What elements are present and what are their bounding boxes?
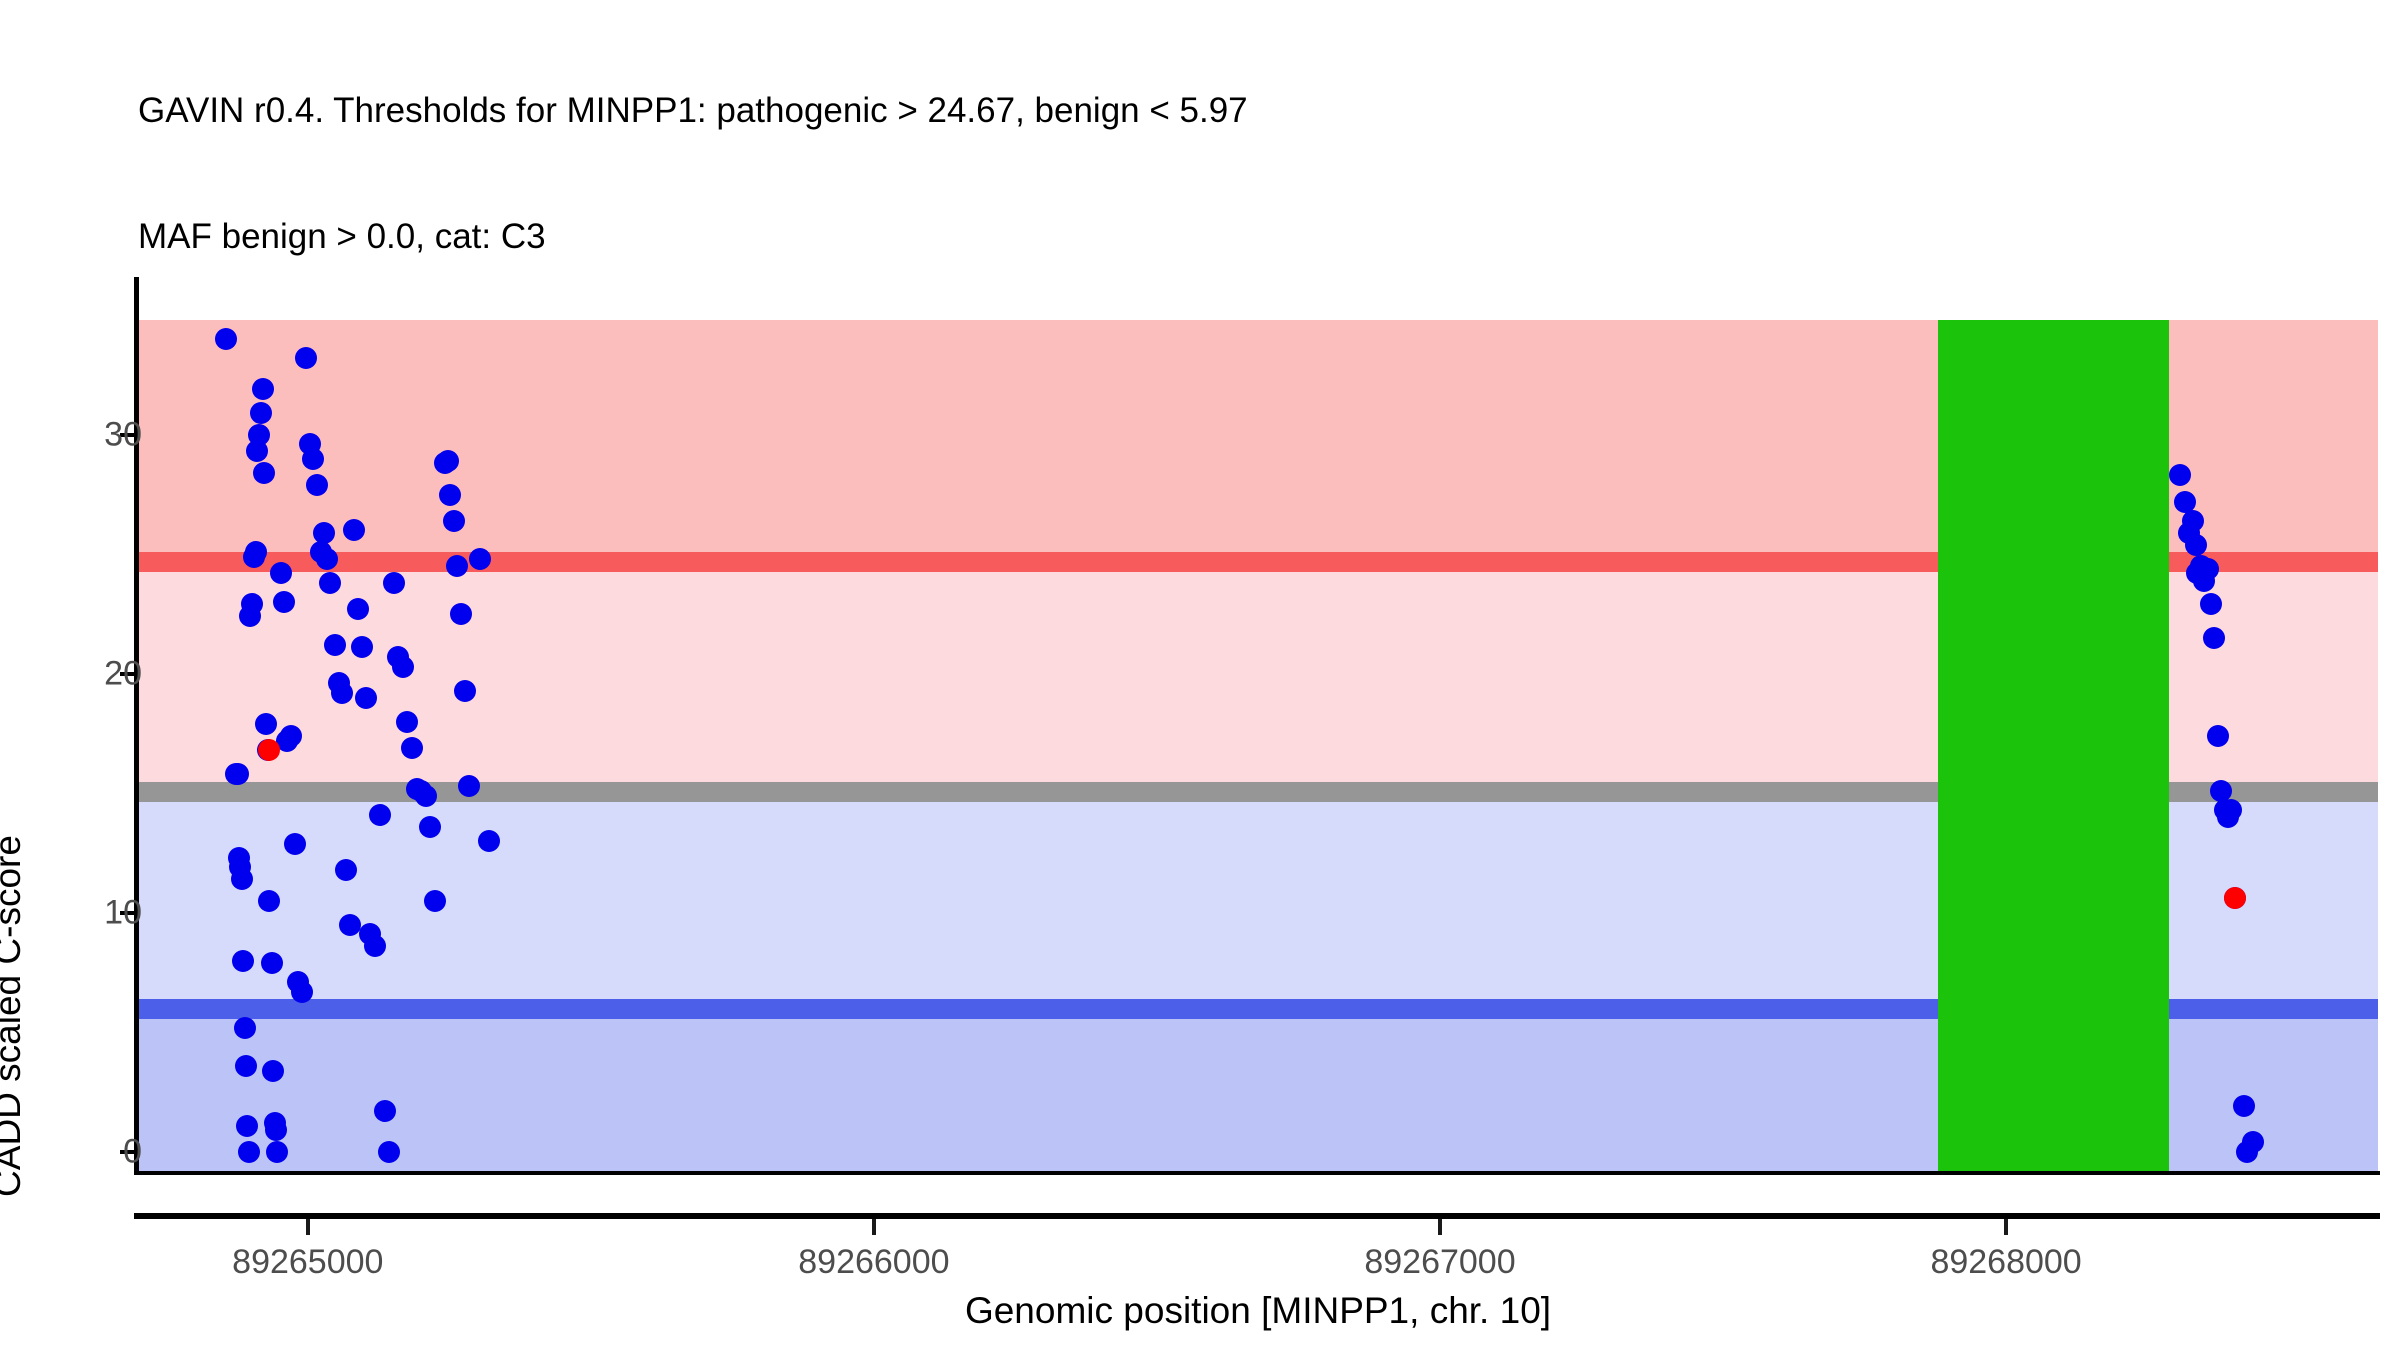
chart-page: GAVIN r0.4. Thresholds for MINPP1: patho… xyxy=(0,0,2400,1350)
data-point xyxy=(295,347,317,369)
x-tick xyxy=(306,1219,310,1235)
data-point xyxy=(245,541,267,563)
y-axis-line xyxy=(134,277,139,1175)
data-point xyxy=(424,890,446,912)
data-point xyxy=(265,1119,287,1141)
data-point xyxy=(339,914,361,936)
data-point xyxy=(454,680,476,702)
data-point xyxy=(351,636,373,658)
data-point xyxy=(270,562,292,584)
y-axis-title-wrap: CADD scaled C-score xyxy=(0,270,60,1170)
data-point xyxy=(291,981,313,1003)
plot-panel xyxy=(138,320,2378,1171)
data-point xyxy=(324,634,346,656)
refseq-exon-1-overlay xyxy=(1938,320,2169,1171)
data-point xyxy=(306,474,328,496)
data-point xyxy=(396,711,418,733)
data-point xyxy=(2182,510,2204,532)
data-point xyxy=(2169,464,2191,486)
data-point xyxy=(343,519,365,541)
data-point xyxy=(355,687,377,709)
data-point xyxy=(415,785,437,807)
data-point xyxy=(439,484,461,506)
data-point xyxy=(374,1100,396,1122)
data-point xyxy=(232,950,254,972)
x-tick xyxy=(1438,1219,1442,1235)
y-tick-label: 10 xyxy=(104,893,142,932)
x-tick xyxy=(2004,1219,2008,1235)
data-point xyxy=(238,1141,260,1163)
data-point xyxy=(234,1017,256,1039)
data-point xyxy=(335,859,357,881)
data-point xyxy=(236,1115,258,1137)
x-tick xyxy=(872,1219,876,1235)
data-point xyxy=(280,725,302,747)
data-point xyxy=(378,1141,400,1163)
data-point xyxy=(2185,534,2207,556)
data-point xyxy=(250,402,272,424)
data-point xyxy=(331,682,353,704)
data-point xyxy=(252,378,274,400)
data-point xyxy=(316,548,338,570)
data-point xyxy=(446,555,468,577)
y-tick-label: 0 xyxy=(123,1132,142,1171)
data-point xyxy=(419,816,441,838)
data-point xyxy=(458,775,480,797)
data-point xyxy=(258,890,280,912)
data-point xyxy=(284,833,306,855)
data-point xyxy=(262,1060,284,1082)
data-point xyxy=(2207,725,2229,747)
data-point xyxy=(2220,799,2242,821)
data-point xyxy=(369,804,391,826)
data-point xyxy=(319,572,341,594)
data-point xyxy=(313,522,335,544)
data-point xyxy=(227,763,249,785)
x-axis-rule xyxy=(134,1213,2380,1219)
data-point xyxy=(392,656,414,678)
x-tick-label: 89266000 xyxy=(798,1243,949,1282)
data-point xyxy=(215,328,237,350)
data-point xyxy=(2224,887,2246,909)
data-point xyxy=(469,548,491,570)
data-point xyxy=(248,424,270,446)
data-point xyxy=(443,510,465,532)
data-point xyxy=(231,868,253,890)
data-point xyxy=(2197,558,2219,580)
data-point xyxy=(364,935,386,957)
x-axis-title: Genomic position [MINPP1, chr. 10] xyxy=(965,1290,1551,1332)
data-point xyxy=(258,739,280,761)
data-point xyxy=(2233,1095,2255,1117)
x-tick-label: 89268000 xyxy=(1930,1243,2081,1282)
data-point xyxy=(2200,593,2222,615)
data-point xyxy=(2242,1131,2264,1153)
data-point xyxy=(450,603,472,625)
data-point xyxy=(2203,627,2225,649)
title-line-1: GAVIN r0.4. Thresholds for MINPP1: patho… xyxy=(138,90,2338,132)
data-point xyxy=(273,591,295,613)
data-point xyxy=(255,713,277,735)
data-point xyxy=(383,572,405,594)
data-point xyxy=(235,1055,257,1077)
data-point xyxy=(253,462,275,484)
y-tick-label: 30 xyxy=(104,415,142,454)
x-tick-label: 89265000 xyxy=(232,1243,383,1282)
data-point xyxy=(261,952,283,974)
x-tick-label: 89267000 xyxy=(1364,1243,1515,1282)
data-point xyxy=(347,598,369,620)
data-point xyxy=(241,593,263,615)
data-point xyxy=(401,737,423,759)
data-point xyxy=(302,448,324,470)
y-axis-title: CADD scaled C-score xyxy=(0,835,29,1197)
data-point xyxy=(478,830,500,852)
y-tick-label: 20 xyxy=(104,654,142,693)
x-axis-line xyxy=(134,1171,2380,1175)
data-point xyxy=(437,450,459,472)
data-point xyxy=(266,1141,288,1163)
title-line-2: MAF benign > 0.0, cat: C3 xyxy=(138,216,2338,258)
